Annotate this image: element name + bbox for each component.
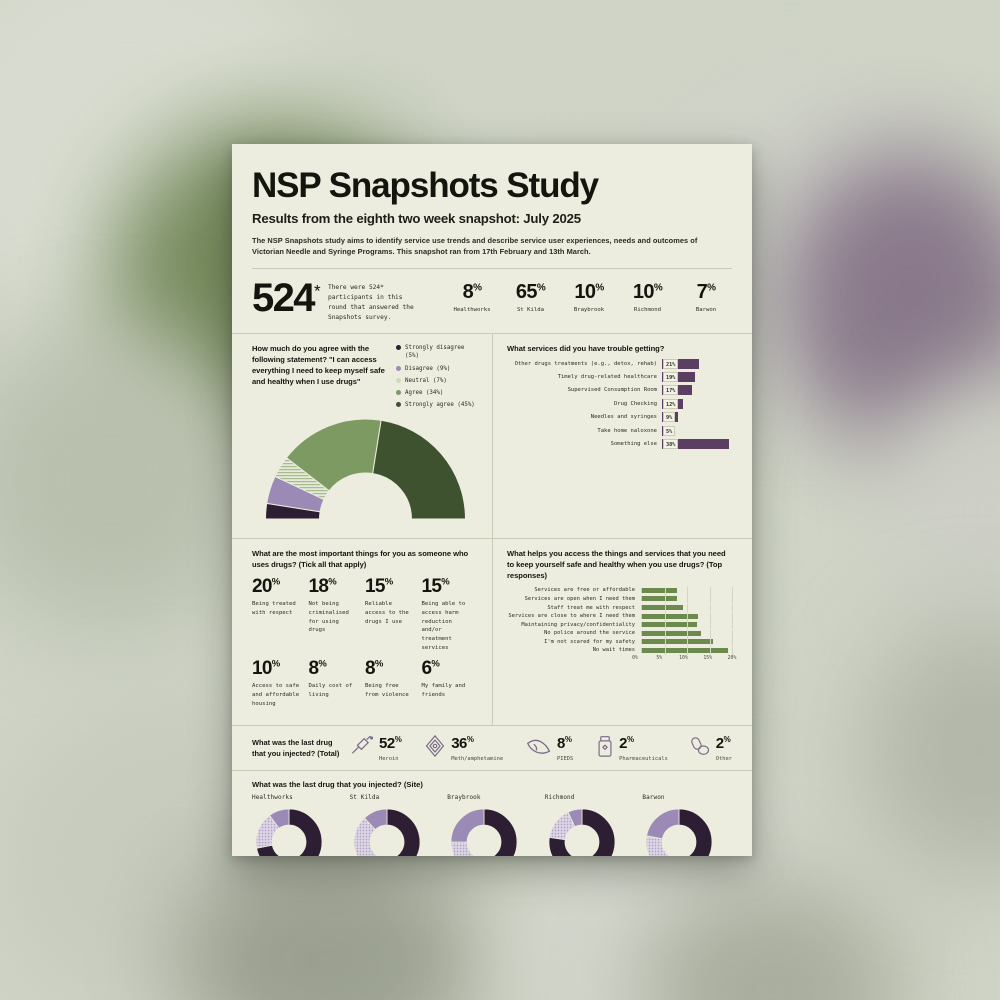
helps-bar-fill xyxy=(642,639,713,644)
infographic-poster: NSP Snapshots Study Results from the eig… xyxy=(232,144,752,856)
site-donut: BraybrookHeroin51%Meth/amphetamine24%PIE… xyxy=(443,794,541,856)
important-label: Being able to access harm reduction and/… xyxy=(422,600,473,652)
trouble-bar-value: 19% xyxy=(663,372,678,382)
important-item: 15%Reliable access to the drugs I use xyxy=(365,577,422,652)
legend-swatch xyxy=(396,390,401,395)
site-donut-chart xyxy=(642,805,716,856)
site-percent-label: Barwon xyxy=(680,307,732,313)
band-agreement-trouble: How much do you agree with the following… xyxy=(232,333,752,540)
trouble-bar-track: 5% xyxy=(662,426,732,436)
important-panel: What are the most important things for y… xyxy=(232,539,492,725)
crystal-icon xyxy=(424,735,446,762)
helps-bar-fill xyxy=(642,631,701,636)
gridline xyxy=(732,587,733,595)
site-donut-charts: HealthworksHeroin72%Meth/amphetamine18%P… xyxy=(232,789,752,856)
gridline xyxy=(687,587,688,595)
last-drug-total-items: 52%Heroin36%Meth/amphetamine8%PIEDS2%Pha… xyxy=(350,735,732,762)
donut-slice xyxy=(679,809,712,856)
last-drug-value: 8% xyxy=(557,735,571,752)
gridline xyxy=(687,647,688,655)
gridline xyxy=(687,630,688,638)
important-item: 8%Being free from violence xyxy=(365,659,422,708)
helps-bar-label: Services are free or affordable xyxy=(507,587,641,593)
last-drug-total-item: 52%Heroin xyxy=(350,735,401,762)
important-item: 8%Daily cost of living xyxy=(309,659,366,708)
gridline xyxy=(665,630,666,638)
stats-strip: 524* There were 524* participants in thi… xyxy=(232,280,752,323)
percent-sign: % xyxy=(385,577,393,588)
last-drug-value: 2% xyxy=(716,735,730,752)
page-subtitle: Results from the eighth two week snapsho… xyxy=(252,211,732,226)
last-drug-label: Meth/amphetamine xyxy=(451,756,503,762)
site-donut-chart xyxy=(252,805,326,856)
legend-item: Strongly agree (45%) xyxy=(396,401,478,410)
legend-swatch xyxy=(396,378,401,383)
gridline xyxy=(732,638,733,646)
donut-slice xyxy=(647,809,679,839)
page-title: NSP Snapshots Study xyxy=(252,168,732,203)
site-percent-value: 10 xyxy=(574,281,595,303)
site-donut-title: Richmond xyxy=(545,794,635,801)
trouble-bar-label: Take home naloxone xyxy=(507,428,662,434)
site-percent-value: 65 xyxy=(516,281,537,303)
important-percent-grid: 20%Being treated with respect18%Not bein… xyxy=(252,577,478,715)
gridline xyxy=(665,587,666,595)
trouble-bar-track: 21% xyxy=(662,359,732,369)
trouble-bar-track: 19% xyxy=(662,372,732,382)
gridline xyxy=(732,595,733,603)
percent-sign: % xyxy=(272,577,280,588)
agreement-question: How much do you agree with the following… xyxy=(252,343,390,387)
legend-item: Neutral (7%) xyxy=(396,377,478,386)
site-donut-chart xyxy=(545,805,619,856)
gridline xyxy=(710,638,711,646)
helps-panel: What helps you access the things and ser… xyxy=(492,539,752,725)
trouble-bar-row: Timely drug-related healthcare19% xyxy=(507,372,732,382)
last-drug-label: Heroin xyxy=(379,756,401,762)
divider xyxy=(252,268,732,269)
helps-bar-track xyxy=(641,614,732,619)
trouble-bar-value: 5% xyxy=(663,426,675,436)
site-donut: HealthworksHeroin72%Meth/amphetamine18%P… xyxy=(248,794,346,856)
legend-label: Strongly disagree (5%) xyxy=(405,344,478,361)
trouble-bar-label: Needles and syringes xyxy=(507,414,662,420)
trouble-bar-label: Drug Checking xyxy=(507,401,662,407)
gridline xyxy=(732,647,733,655)
last-drug-label: Pharmaceuticals xyxy=(619,756,668,762)
trouble-bar-value: 17% xyxy=(663,385,678,395)
legend-swatch xyxy=(396,345,401,350)
gridline xyxy=(732,621,733,629)
helps-bar-row: Services are close to where I need them xyxy=(507,613,732,619)
percent-sign: % xyxy=(395,735,402,744)
gridline xyxy=(665,595,666,603)
percent-sign: % xyxy=(473,282,481,293)
helps-axis: 0%5%10%15%20% xyxy=(507,656,732,664)
trouble-bar-label: Supervised Consumption Room xyxy=(507,387,662,393)
gridline xyxy=(687,595,688,603)
helps-bar-row: I'm not scared for my safety xyxy=(507,639,732,645)
gridline xyxy=(687,621,688,629)
legend-label: Strongly agree (45%) xyxy=(405,401,475,410)
trouble-panel: What services did you have trouble getti… xyxy=(492,334,752,539)
helps-bar-row: Services are open when I need them xyxy=(507,596,732,602)
helps-bar-row: Maintaining privacy/confidentiality xyxy=(507,622,732,628)
important-label: My family and friends xyxy=(422,682,473,699)
band-important-helps: What are the most important things for y… xyxy=(232,539,752,726)
helps-bar-chart: Services are free or affordableServices … xyxy=(507,587,732,653)
trouble-bar-label: Other drugs treatments (e.g., detox, reh… xyxy=(507,361,662,367)
important-item: 20%Being treated with respect xyxy=(252,577,309,652)
helps-bar-label: No wait times xyxy=(507,647,641,653)
gridline xyxy=(665,604,666,612)
important-value: 18% xyxy=(309,577,360,596)
gridline xyxy=(710,613,711,621)
last-drug-label: Other xyxy=(716,756,732,762)
gridline xyxy=(665,647,666,655)
site-percent-item: 10% Braybrook xyxy=(563,282,615,313)
gridline xyxy=(665,638,666,646)
agreement-panel: How much do you agree with the following… xyxy=(232,334,492,539)
gridline xyxy=(687,604,688,612)
site-percent-value: 8 xyxy=(463,281,474,303)
last-drug-total-item: 36%Meth/amphetamine xyxy=(424,735,503,762)
helps-bar-label: Services are close to where I need them xyxy=(507,613,641,619)
site-donut-chart xyxy=(447,805,521,856)
gridline xyxy=(710,587,711,595)
percent-sign: % xyxy=(654,282,662,293)
helps-bar-fill xyxy=(642,596,677,601)
helps-bar-label: No police around the service xyxy=(507,630,641,636)
last-drug-total-item: 8%PIEDS xyxy=(526,735,573,762)
gridline xyxy=(732,630,733,638)
important-item: 18%Not being criminalised for using drug… xyxy=(309,577,366,652)
gridline xyxy=(732,613,733,621)
helps-bar-row: No wait times xyxy=(507,647,732,653)
asterisk: * xyxy=(314,281,319,300)
important-item: 15%Being able to access harm reduction a… xyxy=(422,577,479,652)
site-percent-item: 7% Barwon xyxy=(680,282,732,313)
important-value: 20% xyxy=(252,577,303,596)
legend-item: Disagree (9%) xyxy=(396,365,478,374)
trouble-bar-row: Needles and syringes9% xyxy=(507,412,732,422)
important-item: 6%My family and friends xyxy=(422,659,479,708)
percent-sign: % xyxy=(707,282,715,293)
last-drug-value: 2% xyxy=(619,735,633,752)
agreement-legend: Strongly disagree (5%) Disagree (9%) Neu… xyxy=(396,344,478,414)
percent-sign: % xyxy=(375,659,383,670)
important-value: 15% xyxy=(422,577,473,596)
site-percent-item: 65% St Kilda xyxy=(504,282,556,313)
site-percent-label: St Kilda xyxy=(504,307,556,313)
legend-label: Disagree (9%) xyxy=(405,365,450,374)
site-percent-item: 8% Healthworks xyxy=(446,282,498,313)
last-drug-total-item: 2%Pharmaceuticals xyxy=(596,735,668,762)
important-label: Not being criminalised for using drugs xyxy=(309,600,360,635)
trouble-bar-row: Take home naloxone5% xyxy=(507,426,732,436)
trouble-bar-track: 38% xyxy=(662,439,732,449)
helps-bar-track xyxy=(641,622,732,627)
percent-sign: % xyxy=(627,735,634,744)
site-percent-item: 10% Richmond xyxy=(621,282,673,313)
last-drug-value: 36% xyxy=(451,735,473,752)
bicep-icon xyxy=(526,736,552,761)
site-percent-label: Healthworks xyxy=(446,307,498,313)
trouble-bar-row: Something else38% xyxy=(507,439,732,449)
gridline xyxy=(710,604,711,612)
helps-axis-tick: 10% xyxy=(679,656,688,661)
last-drug-site-question: What was the last drug that you injected… xyxy=(232,771,752,789)
site-percent-value: 10 xyxy=(633,281,654,303)
important-value: 6% xyxy=(422,659,473,678)
total-note: There were 524* participants in this rou… xyxy=(328,283,424,323)
donut-slice xyxy=(387,809,420,856)
helps-bar-label: Staff treat me with respect xyxy=(507,605,641,611)
helps-bar-fill xyxy=(642,622,697,627)
helps-bar-label: Services are open when I need them xyxy=(507,596,641,602)
legend-label: Neutral (7%) xyxy=(405,377,447,386)
helps-bar-track xyxy=(641,605,732,610)
legend-label: Agree (34%) xyxy=(405,389,443,398)
important-label: Reliable access to the drugs I use xyxy=(365,600,416,626)
percent-sign: % xyxy=(724,735,731,744)
helps-axis-tick: 0% xyxy=(632,656,638,661)
site-donut-title: Healthworks xyxy=(252,794,342,801)
total-participants: 524* xyxy=(252,280,319,316)
helps-bar-row: Services are free or affordable xyxy=(507,587,732,593)
gridline xyxy=(710,621,711,629)
syringe-icon xyxy=(350,736,374,761)
gridline xyxy=(665,613,666,621)
important-label: Being free from violence xyxy=(365,682,416,699)
site-donut: RichmondHeroin78%Meth/amphetamine16%PIED… xyxy=(541,794,639,856)
helps-bar-track xyxy=(641,639,732,644)
donut-slice xyxy=(451,809,484,842)
trouble-bar-value: 21% xyxy=(663,359,678,369)
trouble-bar-label: Timely drug-related healthcare xyxy=(507,374,662,380)
important-value: 10% xyxy=(252,659,303,678)
agreement-half-donut-chart xyxy=(252,415,478,528)
poster-header: NSP Snapshots Study Results from the eig… xyxy=(232,168,752,258)
helps-bar-fill xyxy=(642,614,698,619)
legend-swatch xyxy=(396,402,401,407)
helps-bar-label: I'm not scared for my safety xyxy=(507,639,641,645)
gridline xyxy=(710,647,711,655)
gridline xyxy=(687,638,688,646)
trouble-bar-value: 38% xyxy=(663,439,678,449)
donut-slice xyxy=(451,842,483,856)
helps-bar-fill xyxy=(642,605,683,610)
donut-slice xyxy=(482,809,517,856)
pill-bottle-icon xyxy=(596,735,614,762)
gridline xyxy=(732,604,733,612)
gridline xyxy=(710,595,711,603)
capsule-icon xyxy=(691,736,711,761)
helps-bar-fill xyxy=(642,588,677,593)
trouble-bar-track: 17% xyxy=(662,385,732,395)
important-label: Daily cost of living xyxy=(309,682,360,699)
trouble-bar-chart: Other drugs treatments (e.g., detox, reh… xyxy=(507,359,732,449)
helps-bar-track xyxy=(641,648,732,653)
helps-bar-row: No police around the service xyxy=(507,630,732,636)
gridline xyxy=(687,613,688,621)
helps-bar-fill xyxy=(642,648,728,653)
important-question: What are the most important things for y… xyxy=(252,548,478,570)
gauge-slice xyxy=(372,421,465,520)
trouble-bar-value: 12% xyxy=(663,399,678,409)
site-donut-chart xyxy=(350,805,424,856)
last-drug-total-item: 2%Other xyxy=(691,735,732,762)
site-donut: BarwonHeroin50%Meth/amphetamine28%PIEDS/… xyxy=(638,794,736,856)
trouble-question: What services did you have trouble getti… xyxy=(507,343,732,354)
site-donut-title: St Kilda xyxy=(350,794,440,801)
intro-paragraph: The NSP Snapshots study aims to identify… xyxy=(252,235,722,258)
site-percent-label: Braybrook xyxy=(563,307,615,313)
site-donut-title: Braybrook xyxy=(447,794,537,801)
gridline xyxy=(665,621,666,629)
last-drug-value: 52% xyxy=(379,735,401,752)
important-value: 15% xyxy=(365,577,416,596)
helps-bar-row: Staff treat me with respect xyxy=(507,605,732,611)
percent-sign: % xyxy=(431,659,439,670)
trouble-bar-label: Something else xyxy=(507,441,662,447)
important-value: 8% xyxy=(365,659,416,678)
percent-sign: % xyxy=(328,577,336,588)
site-percent-list: 8% Healthworks 65% St Kilda 10% Braybroo… xyxy=(446,282,732,313)
helps-question: What helps you access the things and ser… xyxy=(507,548,732,581)
helps-bar-track xyxy=(641,596,732,601)
helps-bar-track xyxy=(641,588,732,593)
site-percent-label: Richmond xyxy=(621,307,673,313)
important-label: Access to safe and affordable housing xyxy=(252,682,303,708)
trouble-bar-value: 9% xyxy=(663,412,675,422)
legend-item: Agree (34%) xyxy=(396,389,478,398)
gridline xyxy=(710,630,711,638)
percent-sign: % xyxy=(318,659,326,670)
percent-sign: % xyxy=(537,282,545,293)
important-item: 10%Access to safe and affordable housing xyxy=(252,659,309,708)
percent-sign: % xyxy=(467,735,474,744)
percent-sign: % xyxy=(441,577,449,588)
helps-axis-tick: 5% xyxy=(656,656,662,661)
trouble-bar-row: Drug Checking12% xyxy=(507,399,732,409)
site-donut: St KildaHeroin44%Meth/amphetamine44%PIED… xyxy=(346,794,444,856)
last-drug-label: PIEDS xyxy=(557,756,573,762)
percent-sign: % xyxy=(272,659,280,670)
helps-bar-label: Maintaining privacy/confidentiality xyxy=(507,622,641,628)
important-value: 8% xyxy=(309,659,360,678)
percent-sign: % xyxy=(565,735,572,744)
legend-item: Strongly disagree (5%) xyxy=(396,344,478,361)
important-label: Being treated with respect xyxy=(252,600,303,617)
trouble-bar-track: 9% xyxy=(662,412,732,422)
site-donut-title: Barwon xyxy=(642,794,732,801)
trouble-bar-row: Other drugs treatments (e.g., detox, reh… xyxy=(507,359,732,369)
legend-swatch xyxy=(396,366,401,371)
helps-axis-tick: 20% xyxy=(728,656,737,661)
percent-sign: % xyxy=(595,282,603,293)
site-percent-value: 7 xyxy=(697,281,708,303)
last-drug-total-question: What was the last drug that you injected… xyxy=(252,738,344,759)
total-value: 524 xyxy=(252,276,314,320)
helps-axis-tick: 15% xyxy=(703,656,712,661)
helps-bar-track xyxy=(641,631,732,636)
trouble-bar-row: Supervised Consumption Room17% xyxy=(507,385,732,395)
last-drug-total-row: What was the last drug that you injected… xyxy=(232,726,752,771)
trouble-bar-track: 12% xyxy=(662,399,732,409)
